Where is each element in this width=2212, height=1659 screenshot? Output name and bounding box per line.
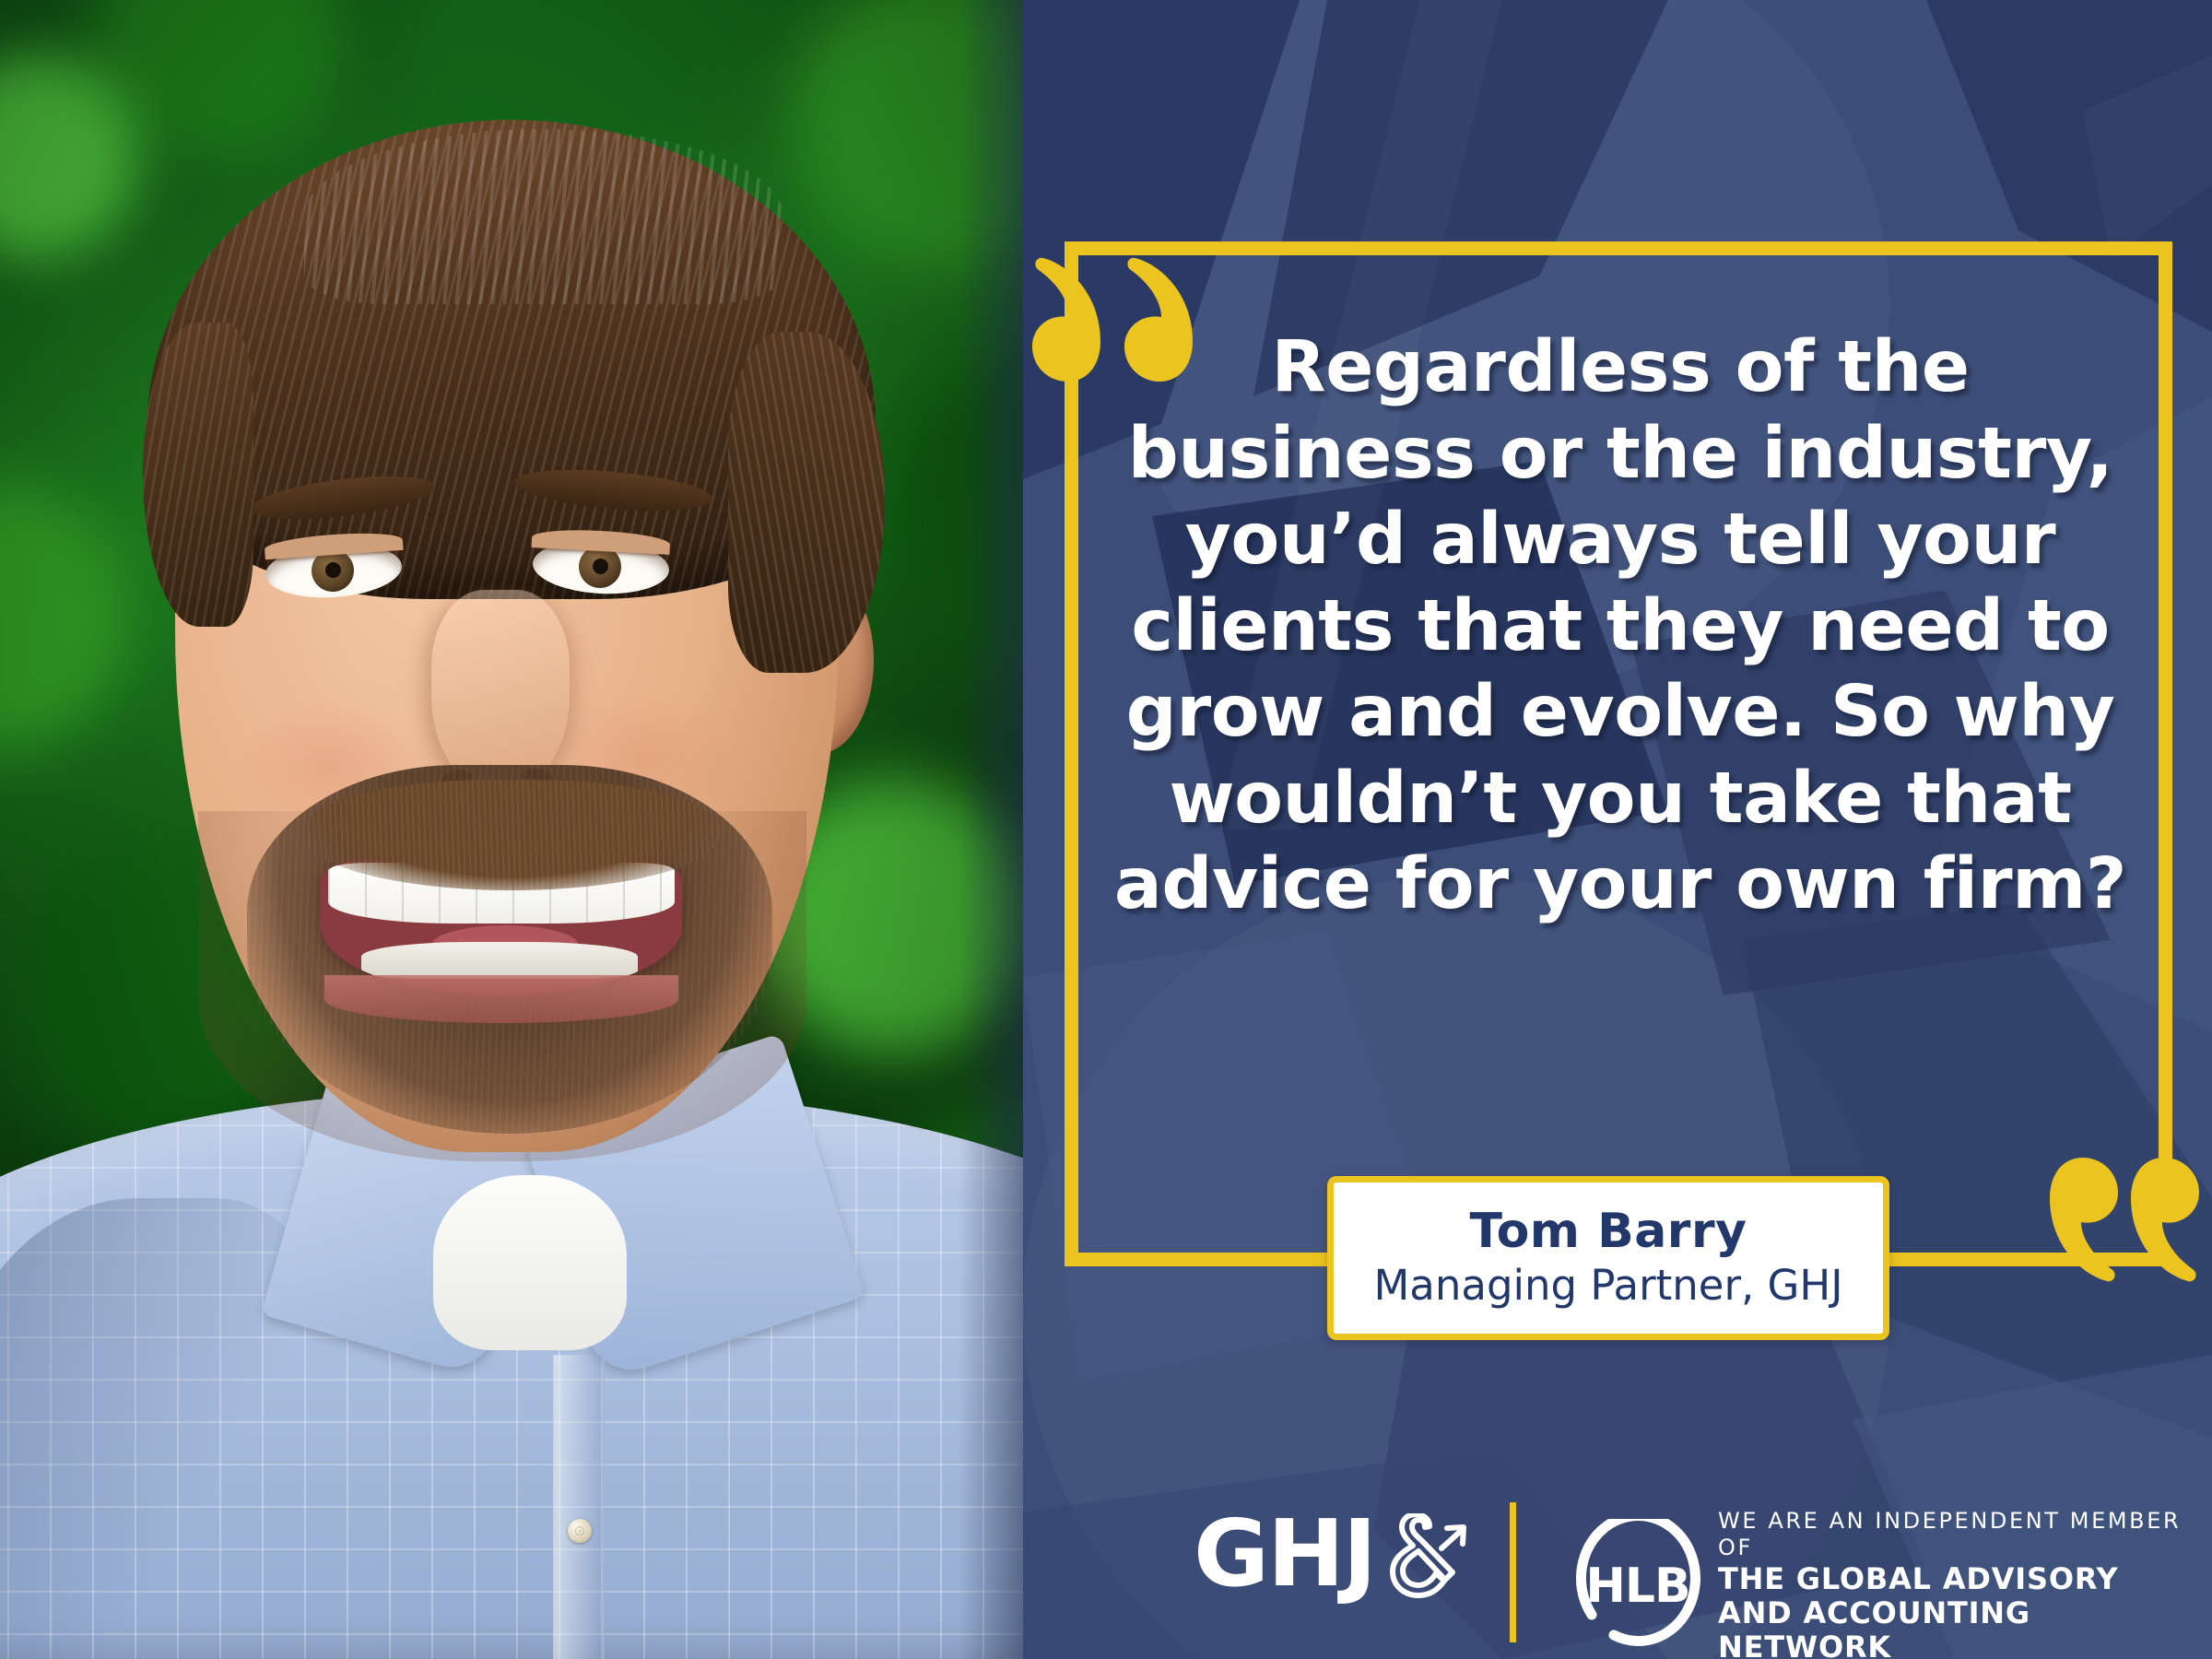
attribution-card: Tom Barry Managing Partner, GHJ	[1327, 1176, 1889, 1340]
teeth-lower	[361, 942, 638, 979]
svg-text:HLB: HLB	[1585, 1559, 1689, 1614]
ghj-logo[interactable]: GHJ	[1194, 1508, 1467, 1614]
shirt-button	[568, 1519, 592, 1543]
hlb-tagline: WE ARE AN INDEPENDENT MEMBER OF THE GLOB…	[1718, 1508, 2212, 1659]
hlb-tagline-line2: THE GLOBAL ADVISORY	[1718, 1562, 2212, 1596]
undershirt	[433, 1175, 627, 1350]
hlb-tagline-line1: WE ARE AN INDEPENDENT MEMBER OF	[1718, 1508, 2212, 1562]
portrait-illustration	[0, 0, 1023, 1659]
mustache	[304, 780, 719, 890]
vertical-divider	[1510, 1502, 1516, 1642]
nose	[431, 590, 570, 793]
ampersand-arrow-icon	[1379, 1513, 1467, 1614]
hair-side-right	[728, 332, 885, 673]
quote-frame-bottom-left	[1065, 1253, 1332, 1266]
hlb-tagline-line3: AND ACCOUNTING NETWORK	[1718, 1596, 2212, 1659]
attribution-role: Managing Partner, GHJ	[1373, 1262, 1842, 1310]
quote-text: Regardless of the business or the indust…	[1086, 324, 2155, 928]
photo-edge-gradient	[959, 0, 1023, 1659]
hlb-member-badge[interactable]: HLB WE ARE AN INDEPENDENT MEMBER OF THE …	[1571, 1508, 2212, 1659]
ghj-wordmark: GHJ	[1194, 1508, 1375, 1600]
shirt-placket	[553, 1355, 605, 1659]
quote-frame-right	[2159, 241, 2172, 1209]
quote-frame-top	[1065, 241, 2172, 255]
hlb-circle-icon: HLB	[1571, 1519, 1705, 1653]
footer-logos: GHJ HLB WE ARE AN INDEPENDENT MEMBER OF …	[1023, 1502, 2212, 1659]
hair-side-left	[143, 323, 253, 627]
close-quote-icon	[2039, 1126, 2205, 1283]
attribution-name: Tom Barry	[1470, 1206, 1747, 1257]
portrait-photo	[0, 0, 1023, 1659]
hair-highlight	[304, 129, 783, 304]
lower-lip	[324, 975, 678, 1023]
quote-graphic-canvas: Regardless of the business or the indust…	[0, 0, 2212, 1659]
